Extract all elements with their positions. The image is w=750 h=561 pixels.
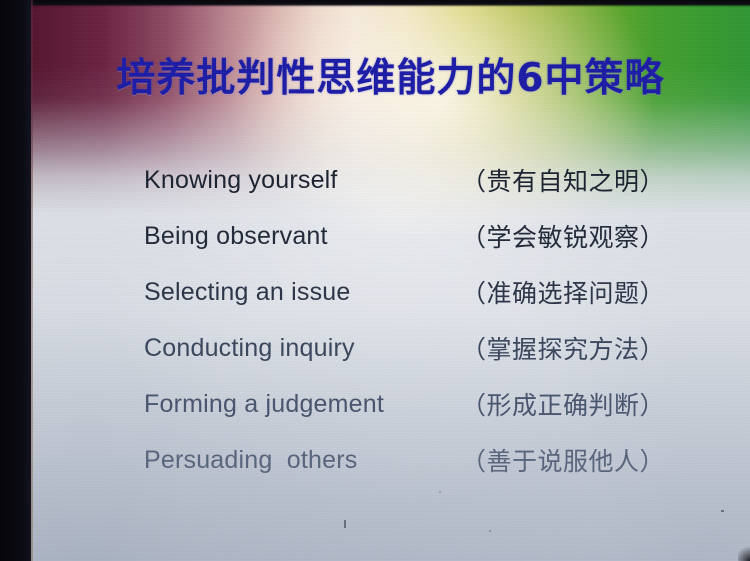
strategy-chinese-1: （学会敏锐观察） bbox=[461, 218, 665, 254]
strategy-english-0: Knowing yourself bbox=[144, 166, 338, 195]
slide-title: 培养批判性思维能力的6中策略 bbox=[31, 47, 750, 103]
strategy-chinese-0: （贵有自知之明） bbox=[461, 162, 665, 198]
list-item: Conducting inquiry （掌握探究方法） bbox=[31, 320, 750, 376]
strategy-english-2: Selecting an issue bbox=[144, 278, 351, 307]
list-item: Knowing yourself （贵有自知之明） bbox=[31, 152, 750, 208]
screen-edge-seam bbox=[31, 0, 33, 561]
strategy-english-4: Forming a judgement bbox=[144, 390, 384, 419]
strategy-english-1: Being observant bbox=[144, 222, 328, 251]
strategy-chinese-4: （形成正确判断） bbox=[461, 386, 665, 422]
strategy-list: Knowing yourself （贵有自知之明） Being observan… bbox=[31, 152, 750, 488]
projected-slide: 培养批判性思维能力的6中策略 Knowing yourself （贵有自知之明）… bbox=[31, 4, 750, 561]
list-item: Being observant （学会敏锐观察） bbox=[31, 208, 750, 264]
list-item: Persuading others （善于说服他人） bbox=[31, 432, 750, 488]
photo-bezel-top bbox=[0, 0, 750, 7]
photo-bezel-corner bbox=[738, 545, 750, 561]
list-item: Forming a judgement （形成正确判断） bbox=[31, 376, 750, 432]
strategy-chinese-2: （准确选择问题） bbox=[461, 274, 665, 310]
strategy-english-3: Conducting inquiry bbox=[144, 334, 355, 363]
photo-bezel-left bbox=[0, 0, 31, 561]
slide-photograph: 培养批判性思维能力的6中策略 Knowing yourself （贵有自知之明）… bbox=[0, 0, 750, 561]
strategy-chinese-5: （善于说服他人） bbox=[461, 442, 665, 478]
strategy-chinese-3: （掌握探究方法） bbox=[461, 330, 665, 366]
slide-content: 培养批判性思维能力的6中策略 Knowing yourself （贵有自知之明）… bbox=[31, 4, 750, 561]
list-item: Selecting an issue （准确选择问题） bbox=[31, 264, 750, 320]
strategy-english-5: Persuading others bbox=[144, 446, 357, 475]
